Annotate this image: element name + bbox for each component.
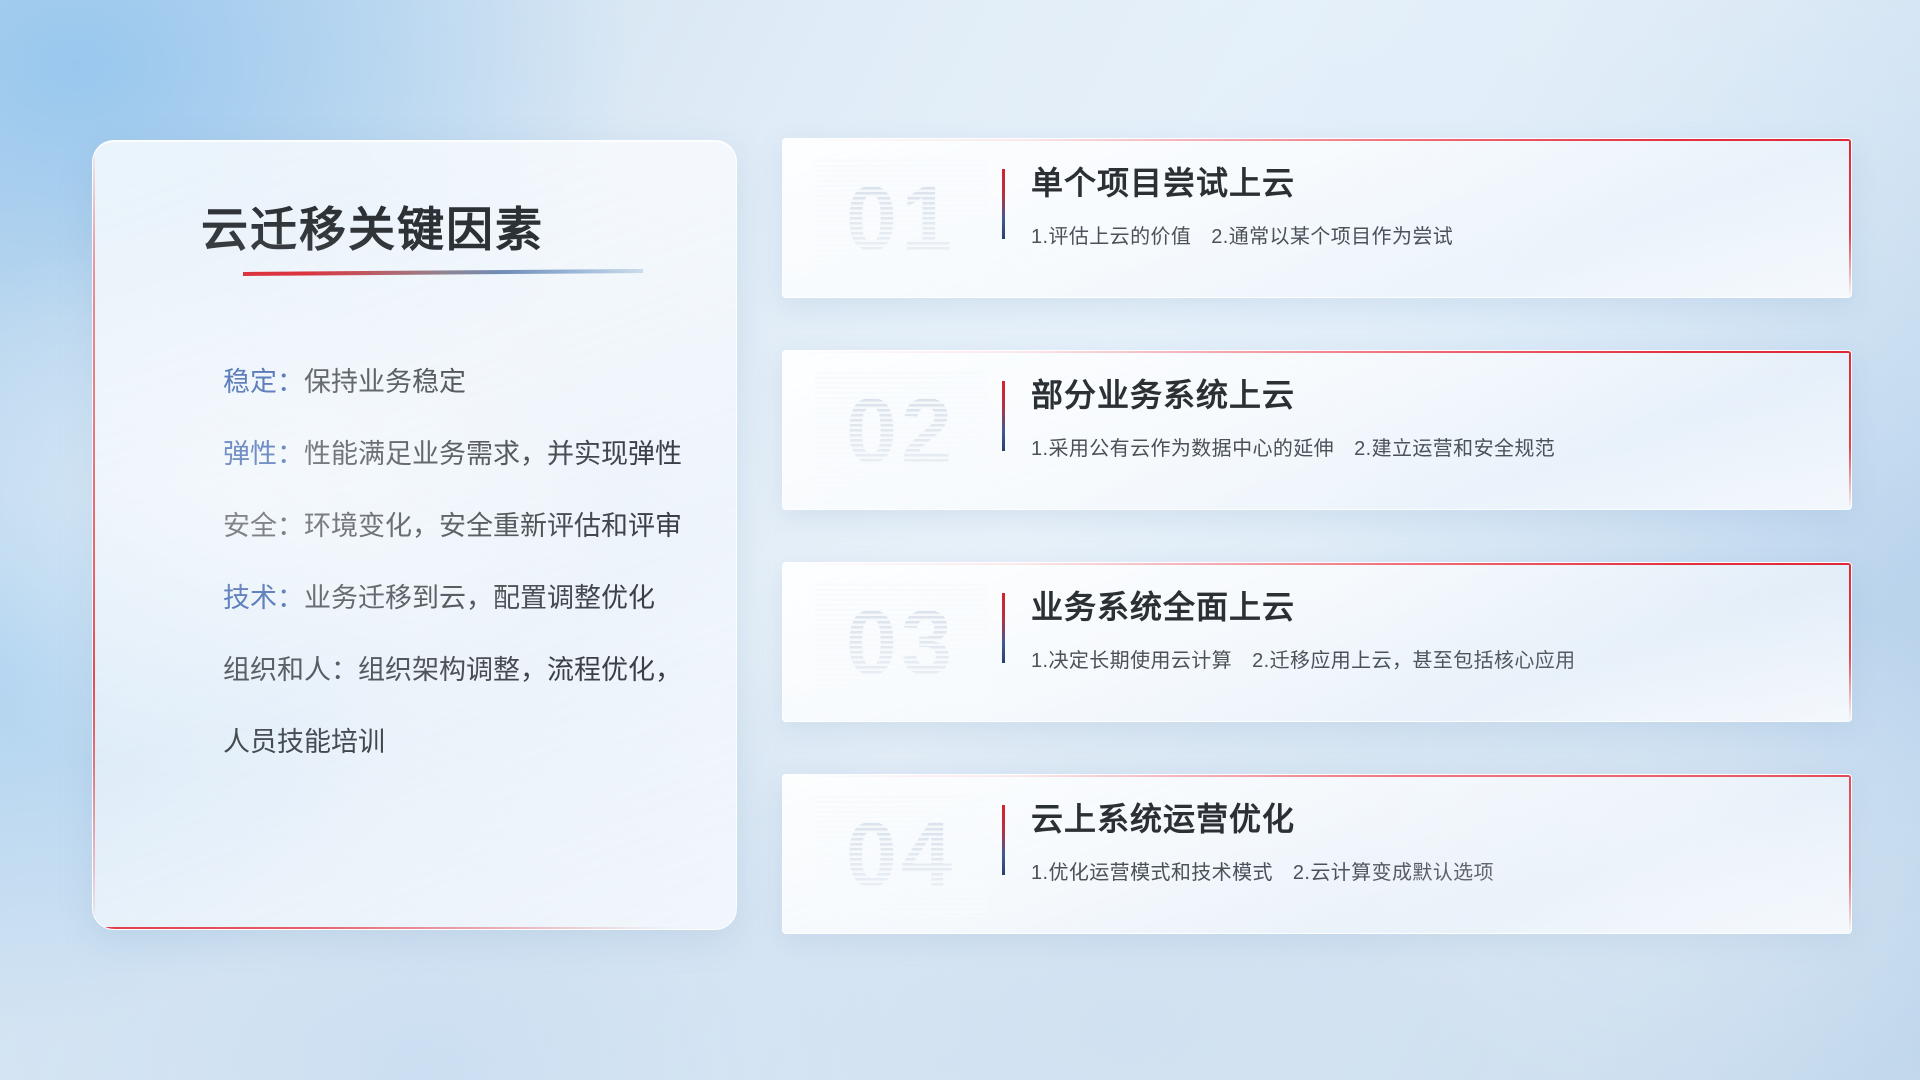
step-points: 1.评估上云的价值2.通常以某个项目作为尝试 (1031, 220, 1811, 249)
factor-text: 保持业务稳定 (304, 367, 466, 397)
factor-label: 稳定： (223, 367, 304, 397)
step-point-2: 2.云计算变成默认选项 (1293, 862, 1494, 884)
factor-text: 人员技能培训 (223, 727, 385, 757)
step-card-body: 单个项目尝试上云 1.评估上云的价值2.通常以某个项目作为尝试 (1031, 163, 1811, 249)
title-underline-gradient (243, 269, 643, 276)
step-points: 1.优化运营模式和技术模式2.云计算变成默认选项 (1031, 856, 1811, 885)
step-card-body: 云上系统运营优化 1.优化运营模式和技术模式2.云计算变成默认选项 (1031, 799, 1811, 885)
step-title: 单个项目尝试上云 (1031, 163, 1811, 203)
factor-label: 弹性： (223, 439, 304, 469)
step-title: 部分业务系统上云 (1031, 375, 1811, 415)
step-point-2: 2.迁移应用上云，甚至包括核心应用 (1252, 650, 1575, 672)
card-divider-bar (1002, 593, 1005, 663)
step-card-04[interactable]: 04 云上系统运营优化 1.优化运营模式和技术模式2.云计算变成默认选项 (782, 774, 1852, 934)
card-right-accent-line (1849, 775, 1851, 933)
step-title: 云上系统运营优化 (1031, 799, 1811, 839)
step-point-2: 2.通常以某个项目作为尝试 (1211, 226, 1453, 248)
slide-canvas: 云迁移关键因素 稳定：保持业务稳定 弹性：性能满足业务需求，并实现弹性 安全：环… (0, 0, 1920, 1080)
step-number-02: 02 (815, 369, 987, 493)
factor-text: 环境变化，安全重新评估和评审 (304, 511, 682, 541)
step-point-2: 2.建立运营和安全规范 (1354, 438, 1555, 460)
factor-item-security: 安全：环境变化，安全重新评估和评审 (223, 513, 696, 540)
factor-item-stability: 稳定：保持业务稳定 (223, 369, 696, 396)
card-divider-bar (1002, 805, 1005, 875)
card-top-accent-line (783, 351, 1851, 353)
card-right-accent-line (1849, 563, 1851, 721)
factor-label: 技术： (223, 583, 304, 613)
step-number-03: 03 (815, 581, 987, 705)
factor-label: 组织和人： (223, 655, 358, 685)
step-card-01[interactable]: 01 单个项目尝试上云 1.评估上云的价值2.通常以某个项目作为尝试 (782, 138, 1852, 298)
factor-list: 稳定：保持业务稳定 弹性：性能满足业务需求，并实现弹性 安全：环境变化，安全重新… (223, 369, 696, 756)
step-point-1: 1.采用公有云作为数据中心的延伸 (1031, 438, 1334, 460)
step-point-1: 1.优化运营模式和技术模式 (1031, 862, 1273, 884)
card-top-accent-line (783, 775, 1851, 777)
step-title: 业务系统全面上云 (1031, 587, 1811, 627)
card-top-accent-line (783, 563, 1851, 565)
step-card-03[interactable]: 03 业务系统全面上云 1.决定长期使用云计算2.迁移应用上云，甚至包括核心应用 (782, 562, 1852, 722)
factor-item-technology: 技术：业务迁移到云，配置调整优化 (223, 585, 696, 612)
card-right-accent-line (1849, 139, 1851, 297)
factor-item-elasticity: 弹性：性能满足业务需求，并实现弹性 (223, 441, 696, 468)
factor-item-organization-continued: 人员技能培训 (223, 729, 696, 756)
step-card-body: 业务系统全面上云 1.决定长期使用云计算2.迁移应用上云，甚至包括核心应用 (1031, 587, 1811, 673)
factor-label: 安全： (223, 511, 304, 541)
step-points: 1.决定长期使用云计算2.迁移应用上云，甚至包括核心应用 (1031, 644, 1811, 673)
step-number-04: 04 (815, 793, 987, 917)
page-title: 云迁移关键因素 (201, 191, 544, 260)
card-divider-bar (1002, 381, 1005, 451)
factor-text: 组织架构调整，流程优化， (358, 655, 682, 685)
card-right-accent-line (1849, 351, 1851, 509)
step-card-02[interactable]: 02 部分业务系统上云 1.采用公有云作为数据中心的延伸2.建立运营和安全规范 (782, 350, 1852, 510)
migration-steps-list: 01 单个项目尝试上云 1.评估上云的价值2.通常以某个项目作为尝试 02 部分… (782, 138, 1852, 934)
panel-left-accent-bar (93, 141, 95, 929)
card-top-accent-line (783, 139, 1851, 141)
step-point-1: 1.决定长期使用云计算 (1031, 650, 1232, 672)
factor-text: 业务迁移到云，配置调整优化 (304, 583, 655, 613)
step-points: 1.采用公有云作为数据中心的延伸2.建立运营和安全规范 (1031, 432, 1811, 461)
step-card-body: 部分业务系统上云 1.采用公有云作为数据中心的延伸2.建立运营和安全规范 (1031, 375, 1811, 461)
factor-text: 性能满足业务需求，并实现弹性 (304, 439, 682, 469)
panel-bottom-accent-bar (93, 927, 736, 929)
step-number-01: 01 (815, 157, 987, 281)
step-point-1: 1.评估上云的价值 (1031, 226, 1191, 248)
key-factors-panel: 云迁移关键因素 稳定：保持业务稳定 弹性：性能满足业务需求，并实现弹性 安全：环… (92, 140, 737, 930)
factor-item-organization: 组织和人：组织架构调整，流程优化， (223, 657, 696, 684)
card-divider-bar (1002, 169, 1005, 239)
